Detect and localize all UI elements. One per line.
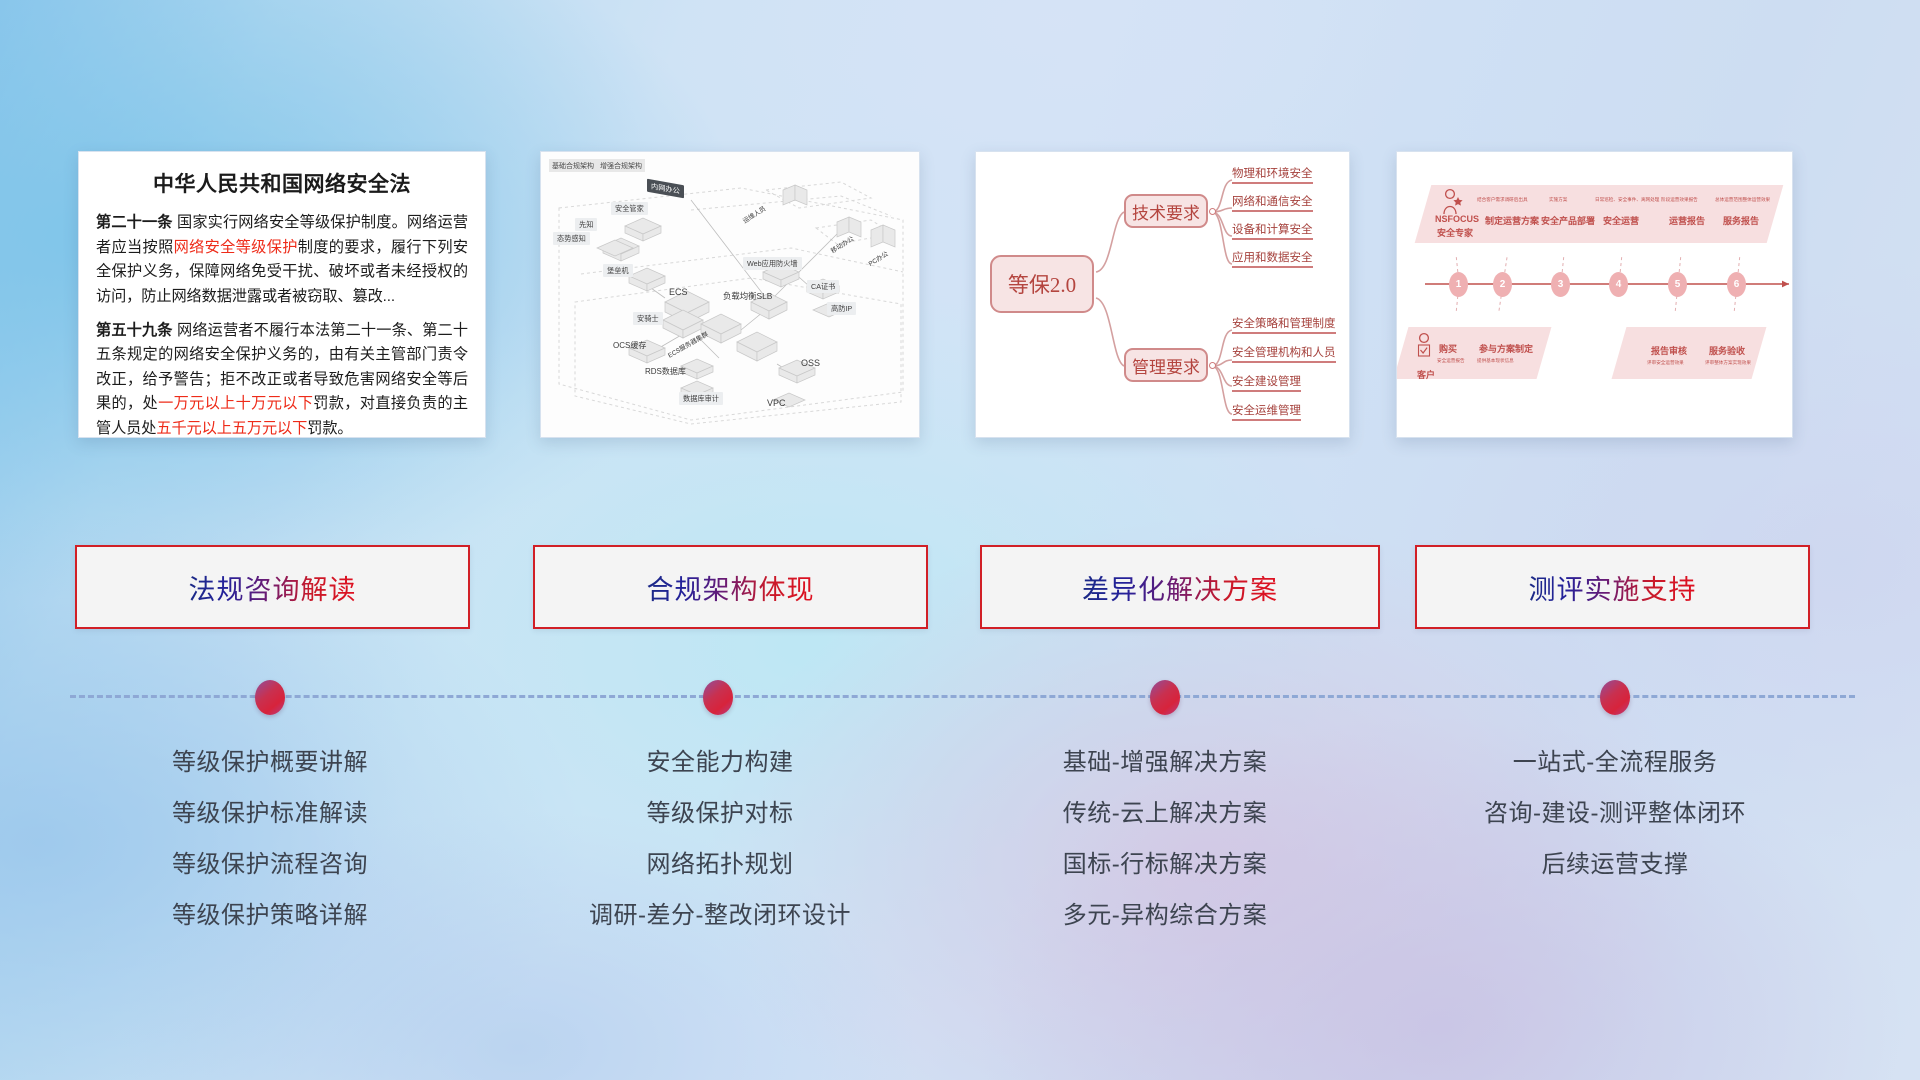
list-item: 后续运营支撑: [1400, 839, 1830, 890]
arch-tab-basic[interactable]: 基础合规架构: [549, 159, 597, 172]
bottom-step-title: 购买: [1439, 342, 1457, 355]
arch-label-bastion-host: 堡垒机: [603, 264, 633, 277]
bottom-step-desc: 提供基本现状信息: [1477, 358, 1514, 364]
dashed-timeline: [0, 663, 1920, 718]
bottom-step-desc: 评审整体方案实现效果: [1705, 360, 1751, 366]
top-step-title: 制定运营方案: [1485, 214, 1539, 227]
top-step-desc: 日常巡检、安全事件、离网处理: [1595, 197, 1659, 203]
top-step-title: 安全运营: [1603, 214, 1639, 227]
heading-box-differentiated-solution[interactable]: 差异化解决方案: [980, 545, 1380, 629]
list-item: 多元-异构综合方案: [950, 890, 1380, 941]
law-text-plain: 罚款。: [307, 420, 352, 437]
list-item: 一站式-全流程服务: [1400, 737, 1830, 788]
heading-box-assessment-support[interactable]: 测评实施支持: [1415, 545, 1810, 629]
arch-label-situation-awareness: 态势感知: [553, 232, 590, 245]
cloud-architecture-card: 基础合规架构 增强合规架构 内网办公 安全管家 先知 态势感知 堡垒机 ECS …: [540, 151, 920, 438]
law-article-label: 第二十一条: [96, 214, 173, 231]
bottom-step-title: 参与方案制定: [1479, 342, 1533, 355]
timeline-marker-4[interactable]: [1600, 680, 1630, 715]
mindmap-branch-technical: 技术要求: [1124, 194, 1208, 228]
timeline-dashed-line: [70, 695, 1855, 698]
detail-column-solution: 基础-增强解决方案 传统-云上解决方案 国标-行标解决方案 多元-异构综合方案: [950, 737, 1380, 941]
detail-column-assessment: 一站式-全流程服务 咨询-建设-测评整体闭环 后续运营支撑: [1400, 737, 1830, 890]
timeline-node[interactable]: 1: [1449, 272, 1468, 297]
list-item: 网络拓扑规划: [505, 839, 935, 890]
timeline-marker-3[interactable]: [1150, 680, 1180, 715]
list-item: 咨询-建设-测评整体闭环: [1400, 788, 1830, 839]
list-item: 等级保护对标: [505, 788, 935, 839]
heading-box-regulation-consulting[interactable]: 法规咨询解读: [75, 545, 470, 629]
timeline-node[interactable]: 6: [1727, 272, 1746, 297]
mindmap-leaf: 应用和数据安全: [1232, 249, 1313, 268]
arch-label-db-audit: 数据库审计: [679, 392, 723, 405]
customer-avatar-icon: [1415, 332, 1437, 366]
mindmap-leaf: 安全建设管理: [1232, 373, 1301, 392]
illustration-card-row: 中华人民共和国网络安全法 第二十一条 国家实行网络安全等级保护制度。网络运营者应…: [0, 151, 1920, 441]
list-item: 国标-行标解决方案: [950, 839, 1380, 890]
service-timeline-card: NSFOCUS 安全专家 结合客户需求调研后出具 制定运营方案 实施方案 安全产…: [1396, 151, 1793, 438]
top-step-title: 安全产品部署: [1541, 214, 1595, 227]
bottom-step-desc: 安全运营报告: [1437, 358, 1465, 364]
timeline-node[interactable]: 4: [1609, 272, 1628, 297]
bottom-step-title: 服务验收: [1709, 344, 1745, 357]
detail-column-row: 等级保护概要讲解 等级保护标准解读 等级保护流程咨询 等级保护策略详解 安全能力…: [0, 737, 1920, 967]
law-text-card: 中华人民共和国网络安全法 第二十一条 国家实行网络安全等级保护制度。网络运营者应…: [78, 151, 486, 438]
customer-name: 客户: [1417, 368, 1435, 381]
timeline-node[interactable]: 2: [1493, 272, 1512, 297]
arch-label-security-butler: 安全管家: [611, 202, 648, 215]
dengbao-mindmap: 等保2.0 技术要求 管理要求 物理和环境安全 网络和通信安全 设备和计算安全 …: [976, 152, 1349, 437]
list-item: 调研-差分-整改闭环设计: [505, 890, 935, 941]
timeline-node[interactable]: 3: [1551, 272, 1570, 297]
expert-name: NSFOCUS: [1435, 214, 1479, 224]
top-step-title: 服务报告: [1723, 214, 1759, 227]
law-text-highlight: 网络安全等级保护: [174, 239, 298, 256]
mindmap-leaf: 安全运维管理: [1232, 402, 1301, 421]
arch-label-anqishi: 安骑士: [633, 312, 663, 325]
arch-label-ca-cert: CA证书: [807, 280, 839, 293]
architecture-diagram: 基础合规架构 增强合规架构 内网办公 安全管家 先知 态势感知 堡垒机 ECS …: [541, 152, 919, 437]
law-paragraph-21: 第二十一条 国家实行网络安全等级保护制度。网络运营者应当按照网络安全等级保护制度…: [96, 211, 468, 310]
heading-label: 差异化解决方案: [1082, 568, 1278, 607]
heading-row: 法规咨询解读 合规架构体现 差异化解决方案 测评实施支持: [0, 545, 1920, 630]
timeline-marker-1[interactable]: [255, 680, 285, 715]
list-item: 等级保护流程咨询: [55, 839, 485, 890]
detail-column-regulation: 等级保护概要讲解 等级保护标准解读 等级保护流程咨询 等级保护策略详解: [55, 737, 485, 941]
bottom-step-desc: 评审安全运营效果: [1647, 360, 1684, 366]
mindmap-collapse-icon[interactable]: [1209, 208, 1216, 215]
law-paragraph-59: 第五十九条 网络运营者不履行本法第二十一条、第二十五条规定的网络安全保护义务的，…: [96, 319, 468, 439]
heading-label: 合规架构体现: [647, 568, 815, 607]
list-item: 等级保护策略详解: [55, 890, 485, 941]
mindmap-branch-management: 管理要求: [1124, 348, 1208, 382]
arch-tab-enhanced[interactable]: 增强合规架构: [597, 159, 645, 172]
mindmap-card: 等保2.0 技术要求 管理要求 物理和环境安全 网络和通信安全 设备和计算安全 …: [975, 151, 1350, 438]
heading-label: 测评实施支持: [1529, 568, 1697, 607]
detail-column-architecture: 安全能力构建 等级保护对标 网络拓扑规划 调研-差分-整改闭环设计: [505, 737, 935, 941]
arch-label-ocs-cache: OCS缓存: [609, 338, 650, 352]
bottom-step-title: 报告审核: [1651, 344, 1687, 357]
slide-root: 中华人民共和国网络安全法 第二十一条 国家实行网络安全等级保护制度。网络运营者应…: [0, 0, 1920, 1080]
timeline-marker-2[interactable]: [703, 680, 733, 715]
heading-label: 法规咨询解读: [189, 568, 357, 607]
law-penalty-highlight: 一万元以上十万元以下: [158, 395, 313, 412]
top-step-title: 运营报告: [1669, 214, 1705, 227]
arch-label-oss: OSS: [797, 356, 824, 369]
list-item: 安全能力构建: [505, 737, 935, 788]
arch-label-anti-ddos-ip: 高防IP: [827, 302, 856, 315]
mindmap-leaf: 物理和环境安全: [1232, 165, 1313, 184]
arch-label-vpc: VPC: [763, 396, 790, 409]
top-step-desc: 结合客户需求调研后出具: [1477, 197, 1528, 203]
expert-subtitle: 安全专家: [1437, 226, 1473, 239]
arch-label-rds-db: RDS数据库: [641, 364, 690, 378]
arch-label-ecs: ECS: [665, 285, 692, 298]
mindmap-collapse-icon[interactable]: [1209, 362, 1216, 369]
nsfocus-timeline: NSFOCUS 安全专家 结合客户需求调研后出具 制定运营方案 实施方案 安全产…: [1397, 152, 1792, 437]
mindmap-leaf: 网络和通信安全: [1232, 193, 1313, 212]
mindmap-leaf: 安全策略和管理制度: [1232, 315, 1336, 334]
top-step-desc: 实施方案: [1549, 197, 1567, 203]
timeline-node[interactable]: 5: [1668, 272, 1687, 297]
heading-box-compliance-architecture[interactable]: 合规架构体现: [533, 545, 928, 629]
arch-label-xianzhi: 先知: [575, 218, 597, 231]
list-item: 等级保护概要讲解: [55, 737, 485, 788]
arch-label-slb: 负载均衡SLB: [719, 288, 776, 303]
law-penalty-highlight: 五千元以上五万元以下: [156, 420, 307, 437]
law-card-title: 中华人民共和国网络安全法: [96, 168, 468, 198]
list-item: 等级保护标准解读: [55, 788, 485, 839]
arch-label-waf: Web应用防火墙: [743, 257, 802, 270]
mindmap-leaf: 安全管理机构和人员: [1232, 344, 1336, 363]
mindmap-leaf: 设备和计算安全: [1232, 221, 1313, 240]
top-step-desc: 阶段运营效果报告: [1661, 197, 1698, 203]
list-item: 传统-云上解决方案: [950, 788, 1380, 839]
mindmap-root-node: 等保2.0: [990, 255, 1094, 313]
list-item: 基础-增强解决方案: [950, 737, 1380, 788]
law-article-label: 第五十九条: [96, 322, 173, 339]
top-step-desc: 总体运营范围整体运营效果: [1715, 197, 1770, 203]
